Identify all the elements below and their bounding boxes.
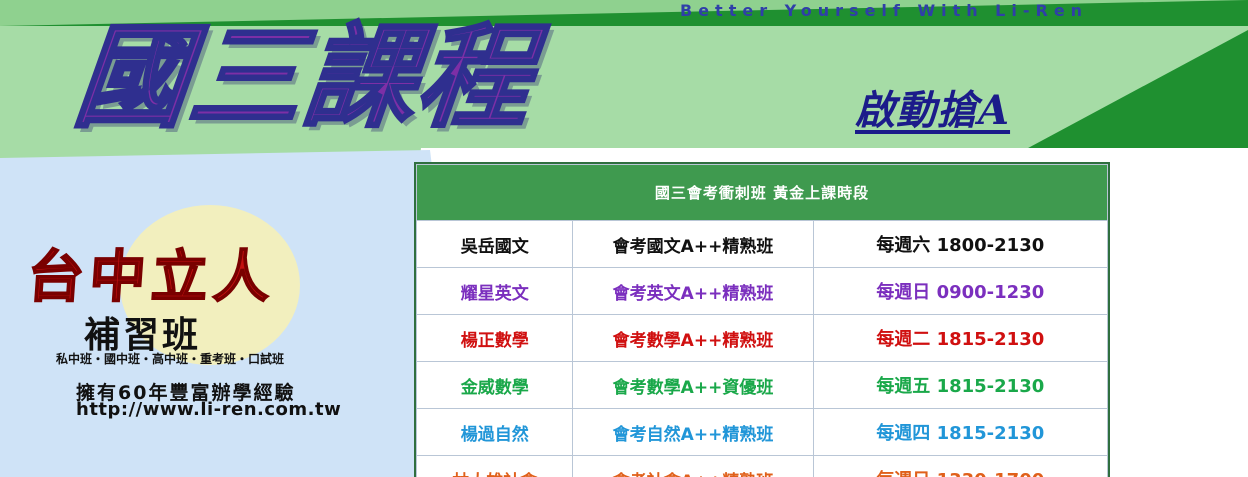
table-row: 吳岳國文會考國文A++精熟班每週六 1800-2130 xyxy=(417,221,1108,268)
schedule-table-body: 國三會考衝刺班 黃金上課時段 吳岳國文會考國文A++精熟班每週六 1800-21… xyxy=(417,165,1108,477)
cell-course: 會考自然A++精熟班 xyxy=(573,409,813,456)
cell-time: 每週日 1330-1700 xyxy=(813,456,1107,477)
page-subtitle: 啟動搶A xyxy=(855,78,1010,136)
cell-teacher: 金威數學 xyxy=(417,362,573,409)
page-title: 國三課程 xyxy=(70,22,538,134)
cell-course: 會考英文A++精熟班 xyxy=(573,268,813,315)
table-row: 耀星英文會考英文A++精熟班每週日 0900-1230 xyxy=(417,268,1108,315)
cell-teacher: 林大雄社會 xyxy=(417,456,573,477)
table-row: 金威數學會考數學A++資優班每週五 1815-2130 xyxy=(417,362,1108,409)
schedule-table: 國三會考衝刺班 黃金上課時段 吳岳國文會考國文A++精熟班每週六 1800-21… xyxy=(416,164,1108,477)
cell-time: 每週五 1815-2130 xyxy=(813,362,1107,409)
schedule-table-header: 國三會考衝刺班 黃金上課時段 xyxy=(417,165,1108,221)
cell-course: 會考數學A++資優班 xyxy=(573,362,813,409)
cell-time: 每週四 1815-2130 xyxy=(813,409,1107,456)
cell-teacher: 楊正數學 xyxy=(417,315,573,362)
cell-course: 會考社會A++精熟班 xyxy=(573,456,813,477)
table-row: 林大雄社會會考社會A++精熟班每週日 1330-1700 xyxy=(417,456,1108,477)
table-row: 楊過自然會考自然A++精熟班每週四 1815-2130 xyxy=(417,409,1108,456)
cell-teacher: 楊過自然 xyxy=(417,409,573,456)
poster-root: Better Yourself With Li-Ren 國三課程 啟動搶A 台中… xyxy=(0,0,1248,477)
cell-time: 每週六 1800-2130 xyxy=(813,221,1107,268)
table-row: 楊正數學會考數學A++精熟班每週二 1815-2130 xyxy=(417,315,1108,362)
logo-class-types: 私中班・國中班・高中班・重考班・口試班 xyxy=(56,350,284,367)
cell-course: 會考國文A++精熟班 xyxy=(573,221,813,268)
tagline: Better Yourself With Li-Ren xyxy=(680,1,1240,20)
cell-teacher: 吳岳國文 xyxy=(417,221,573,268)
cell-teacher: 耀星英文 xyxy=(417,268,573,315)
logo-name: 台中立人 xyxy=(25,232,279,313)
cell-course: 會考數學A++精熟班 xyxy=(573,315,813,362)
cell-time: 每週日 0900-1230 xyxy=(813,268,1107,315)
logo-website-url[interactable]: http://www.li-ren.com.tw xyxy=(76,399,341,420)
schedule-table-header-row: 國三會考衝刺班 黃金上課時段 xyxy=(417,165,1108,221)
cell-time: 每週二 1815-2130 xyxy=(813,315,1107,362)
